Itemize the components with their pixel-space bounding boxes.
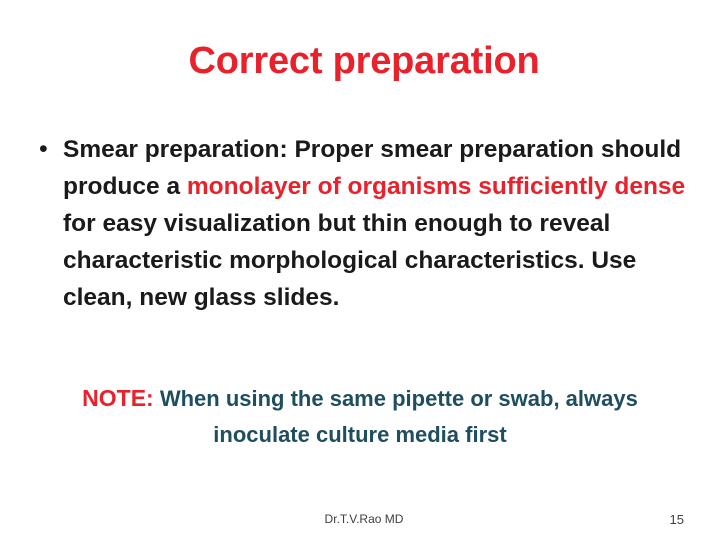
- list-item: • Smear preparation: Proper smear prepar…: [33, 131, 703, 316]
- footer-author: Dr.T.V.Rao MD: [0, 512, 728, 526]
- body-content: • Smear preparation: Proper smear prepar…: [33, 131, 703, 316]
- note-text: When using the same pipette or swab, alw…: [154, 386, 638, 447]
- bullet-marker: •: [33, 131, 63, 168]
- note-label: NOTE:: [82, 385, 154, 411]
- slide: Correct preparation • Smear preparation:…: [0, 0, 728, 546]
- page-title: Correct preparation: [0, 40, 728, 83]
- note-block: NOTE: When using the same pipette or swa…: [60, 382, 660, 454]
- footer-page-number: 15: [670, 512, 684, 527]
- bullet-text-highlight: monolayer of organisms sufficiently dens…: [187, 173, 685, 200]
- bullet-text-part-2: for easy visualization but thin enough t…: [63, 210, 636, 311]
- bullet-text: Smear preparation: Proper smear preparat…: [63, 131, 703, 316]
